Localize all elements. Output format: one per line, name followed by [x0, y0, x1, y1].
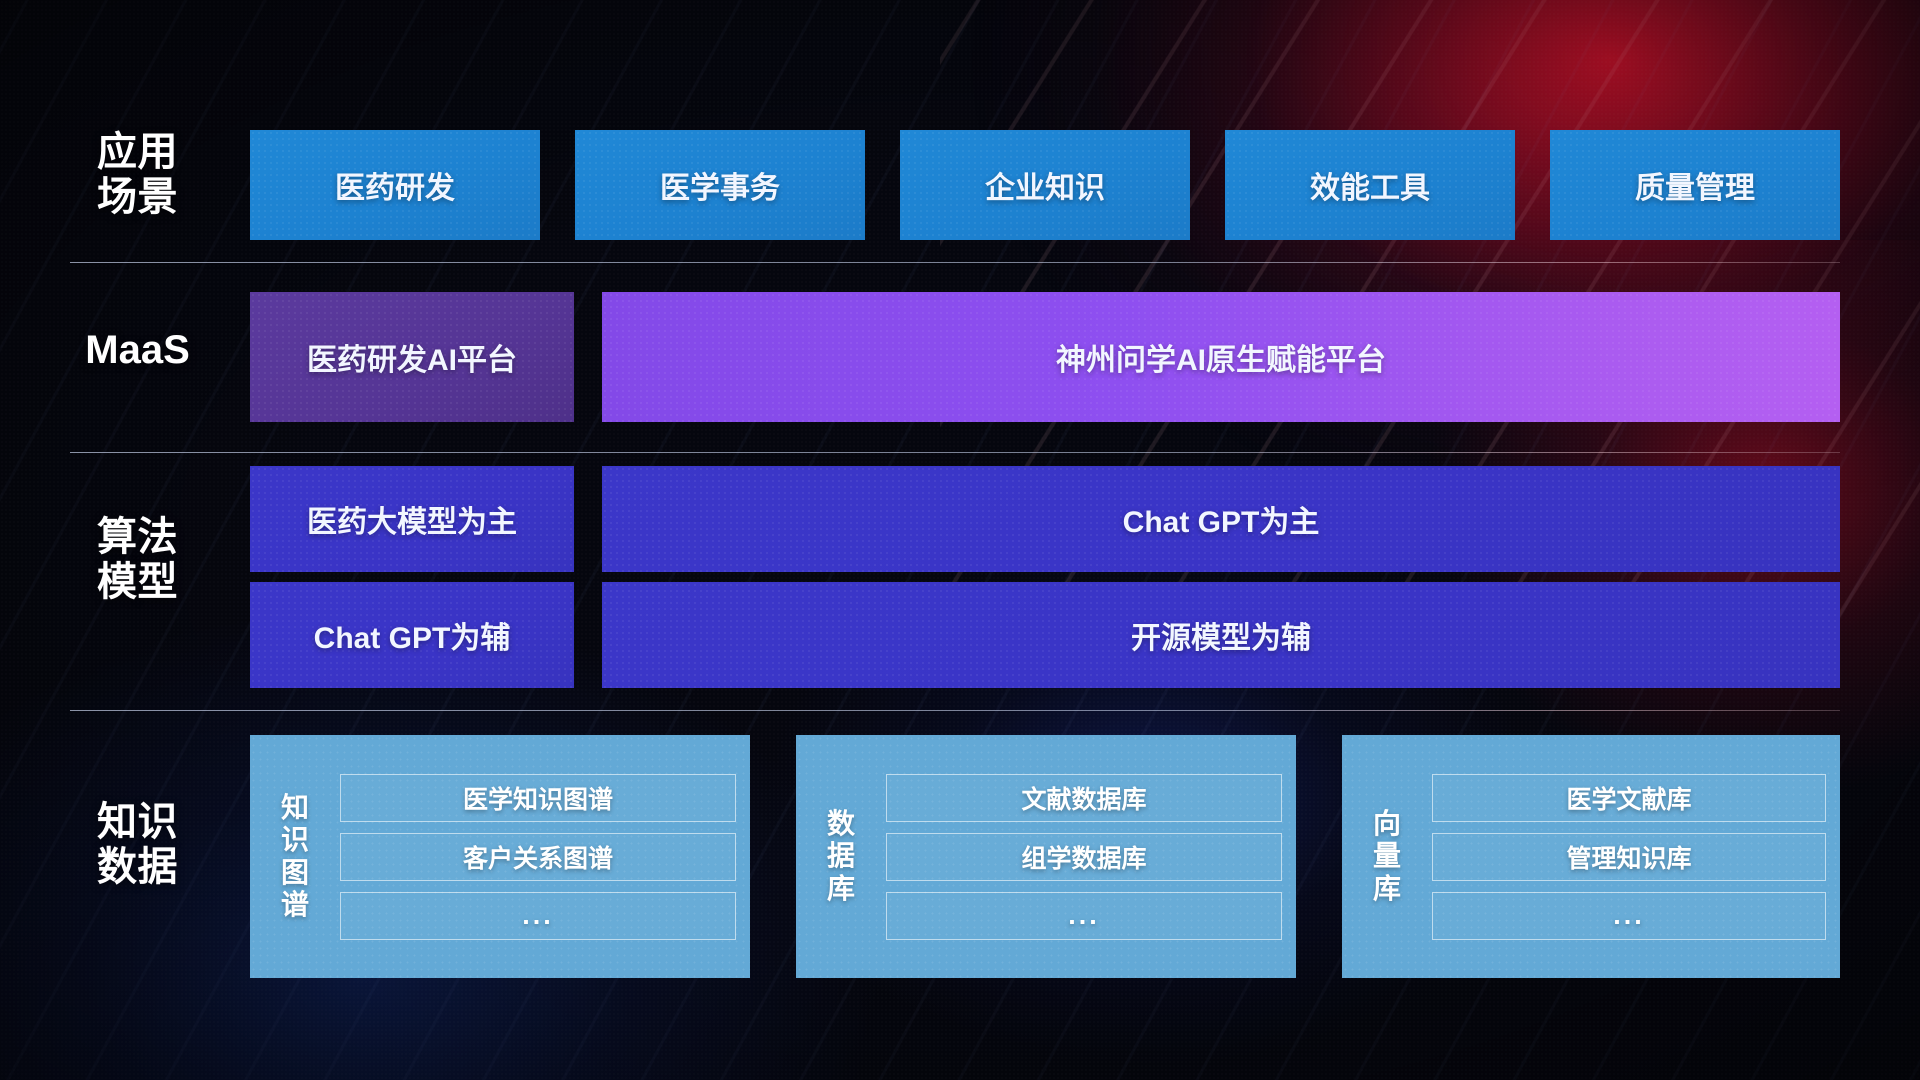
knowledge-panel-vector-vertical-label: 向量库	[1356, 749, 1418, 964]
maas-block-enablement[interactable]: 神州问学AI原生赋能平台	[602, 292, 1840, 422]
row-label-knowledge: 知识 数据	[70, 800, 205, 890]
knowledge-panel-database-vertical-label: 数据库	[810, 749, 872, 964]
knowledge-panel-graph-vertical-label: 知识图谱	[264, 749, 326, 964]
maas-block-platform[interactable]: 医药研发AI平台	[250, 292, 574, 422]
app-block-4[interactable]: 效能工具	[1225, 130, 1515, 240]
knowledge-item-more[interactable]: ...	[1432, 892, 1826, 940]
algo-block-opensource-aux-label: 开源模型为辅	[1131, 613, 1311, 657]
maas-block-platform-label: 医药研发AI平台	[307, 335, 517, 379]
app-block-4-label: 效能工具	[1310, 163, 1430, 207]
app-block-5-label: 质量管理	[1635, 163, 1755, 207]
divider-algorithm-knowledge	[70, 710, 1840, 711]
app-block-3-label: 企业知识	[985, 163, 1105, 207]
knowledge-item[interactable]: 医学知识图谱	[340, 774, 736, 822]
app-block-1[interactable]: 医药研发	[250, 130, 540, 240]
algo-block-opensource-aux[interactable]: 开源模型为辅	[602, 582, 1840, 688]
row-label-algorithm: 算法 模型	[70, 515, 205, 605]
knowledge-item-more[interactable]: ...	[340, 892, 736, 940]
knowledge-panel-vector-items: 医学文献库 管理知识库 ...	[1418, 749, 1826, 964]
row-label-maas: MaaS	[70, 328, 205, 373]
knowledge-item[interactable]: 组学数据库	[886, 833, 1282, 881]
architecture-diagram: 应用 场景 医药研发 医学事务 企业知识 效能工具 质量管理 MaaS 医药研发…	[0, 0, 1920, 1080]
algo-block-chatgpt-aux[interactable]: Chat GPT为辅	[250, 582, 574, 688]
knowledge-panel-graph-items: 医学知识图谱 客户关系图谱 ...	[326, 749, 736, 964]
algo-block-chatgpt-main-label: Chat GPT为主	[1123, 497, 1320, 541]
knowledge-panel-database[interactable]: 数据库 文献数据库 组学数据库 ...	[796, 735, 1296, 978]
algo-block-chatgpt-aux-label: Chat GPT为辅	[314, 613, 511, 657]
knowledge-item[interactable]: 管理知识库	[1432, 833, 1826, 881]
knowledge-panel-vector[interactable]: 向量库 医学文献库 管理知识库 ...	[1342, 735, 1840, 978]
algo-block-pharma-main[interactable]: 医药大模型为主	[250, 466, 574, 572]
knowledge-panel-database-items: 文献数据库 组学数据库 ...	[872, 749, 1282, 964]
divider-application-maas	[70, 262, 1840, 263]
row-label-application: 应用 场景	[70, 130, 205, 220]
knowledge-item[interactable]: 医学文献库	[1432, 774, 1826, 822]
knowledge-item[interactable]: 客户关系图谱	[340, 833, 736, 881]
app-block-5[interactable]: 质量管理	[1550, 130, 1840, 240]
knowledge-item-more[interactable]: ...	[886, 892, 1282, 940]
app-block-1-label: 医药研发	[335, 163, 455, 207]
app-block-2-label: 医学事务	[660, 163, 780, 207]
app-block-3[interactable]: 企业知识	[900, 130, 1190, 240]
knowledge-panel-graph[interactable]: 知识图谱 医学知识图谱 客户关系图谱 ...	[250, 735, 750, 978]
algo-block-pharma-main-label: 医药大模型为主	[307, 497, 517, 541]
knowledge-item[interactable]: 文献数据库	[886, 774, 1282, 822]
divider-maas-algorithm	[70, 452, 1840, 453]
algo-block-chatgpt-main[interactable]: Chat GPT为主	[602, 466, 1840, 572]
app-block-2[interactable]: 医学事务	[575, 130, 865, 240]
maas-block-enablement-label: 神州问学AI原生赋能平台	[1056, 335, 1386, 379]
